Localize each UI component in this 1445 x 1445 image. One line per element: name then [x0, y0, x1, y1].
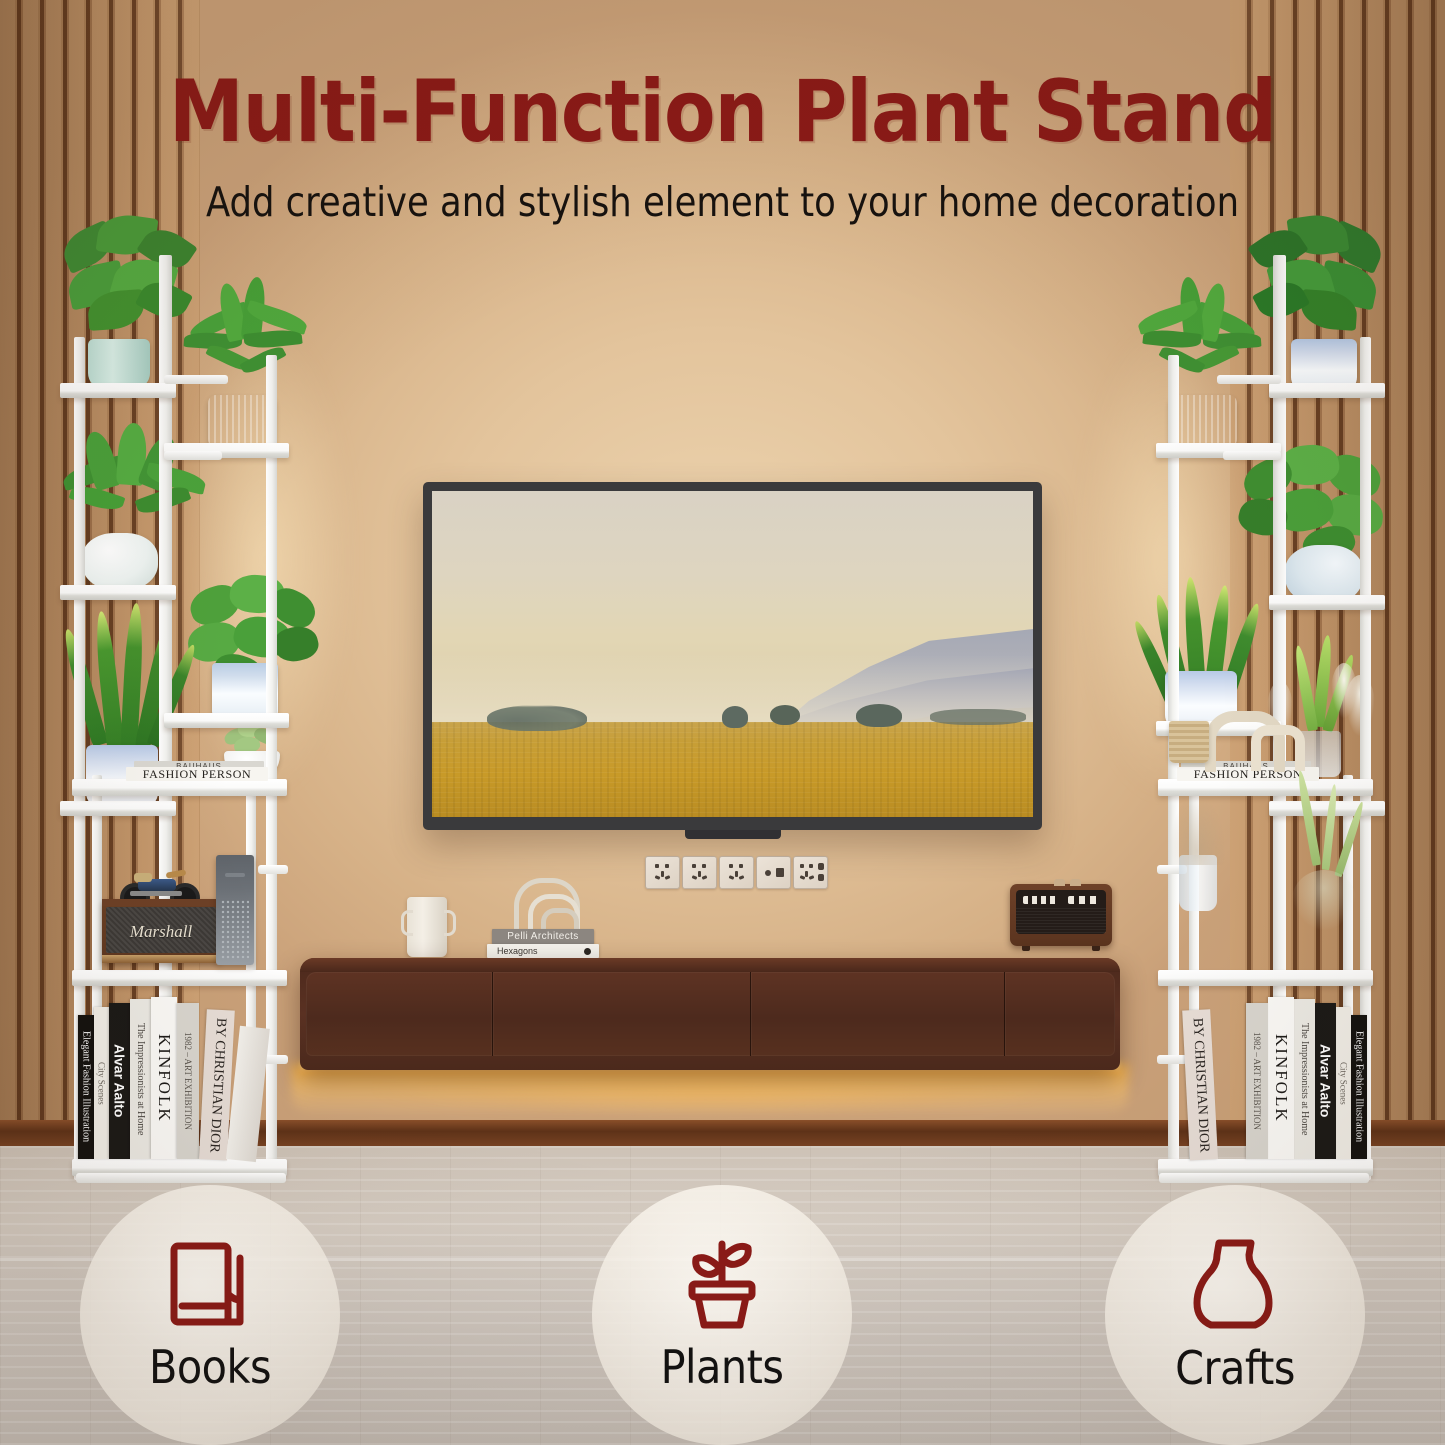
shelf-top-left: [1269, 383, 1385, 398]
book-spine: 1982 – ART EXHIBITION: [177, 1003, 199, 1159]
console-book-lower: Hexagons: [487, 944, 599, 958]
stand-rail-foot: [1159, 1173, 1369, 1183]
ribbed-mint-pot: [1169, 395, 1237, 449]
stand-rail-bottom: [1157, 1055, 1187, 1064]
feature-label: Books: [149, 1340, 271, 1394]
book-spine: Elegant Fashion Illustration: [1351, 1015, 1367, 1159]
book-spine: Alvar Aalto: [1315, 1003, 1336, 1159]
feature-label: Plants: [661, 1340, 784, 1394]
book-spine: Alvar Aalto: [109, 1003, 130, 1159]
page-subtitle: Add creative and stylish element to your…: [29, 178, 1416, 226]
product-lifestyle-image: Multi-Function Plant Stand Add creative …: [0, 0, 1445, 1445]
tv-art-tree-cluster: [487, 705, 587, 731]
tv-art-shrub-right: [930, 709, 1026, 725]
radio-knob-left: [1054, 879, 1065, 886]
tv-art-tree-1: [722, 706, 748, 728]
book-spine: The Impressionists at Home: [130, 999, 151, 1159]
mint-ceramic-pot: [88, 339, 150, 389]
marshall-speaker: Marshall: [102, 899, 220, 963]
stand-rail-foot: [76, 1173, 286, 1183]
tv-art-field-texture: [432, 722, 1033, 817]
feature-label: Crafts: [1175, 1341, 1295, 1395]
radio-foot-left: [1022, 946, 1030, 951]
feature-crafts[interactable]: Crafts: [1105, 1185, 1365, 1445]
book-spine: 1982 – ART EXHIBITION: [1246, 1003, 1268, 1159]
stand-rail-mid: [164, 451, 222, 460]
dracaena-plant: [1135, 277, 1263, 409]
console-drawer: [306, 972, 492, 1056]
tv-screen: [432, 491, 1033, 817]
vase-handle-left: [401, 910, 413, 936]
book-spine: Elegant Fashion Illustration: [78, 1015, 94, 1159]
palm-plant: [182, 277, 310, 409]
radio-button-row-left: [1023, 896, 1059, 904]
stand-rail-mid: [1223, 451, 1281, 460]
woven-basket: [1169, 721, 1209, 763]
motorcycle-model: [118, 867, 196, 901]
power-socket: [645, 856, 680, 889]
shelf-mid-right: [164, 713, 289, 728]
tv-stand-foot: [685, 830, 781, 839]
book-spine: KINFOLK: [151, 997, 177, 1159]
book-spine: City Scenes: [94, 1007, 109, 1159]
console-drawer: [1004, 972, 1115, 1056]
plant-stand-right: BAUHAUS FASHION PERSON Elegant Fashion I…: [1145, 255, 1385, 1180]
tv-console: [300, 958, 1120, 1070]
book-spine: KINFOLK: [1268, 997, 1294, 1159]
marshall-logo: Marshall: [102, 922, 220, 942]
radio-grille: [1016, 908, 1106, 934]
book-spine: The Impressionists at Home: [1294, 999, 1315, 1159]
console-drawer: [492, 972, 751, 1056]
plant-stand-left: BAUHAUS FASHION PERSON Marshall Elegant …: [60, 255, 300, 1180]
book-spine: BY CHRISTIAN DIOR: [1182, 1009, 1218, 1160]
round-white-pot: [82, 533, 158, 591]
page-title: Multi-Function Plant Stand: [22, 62, 1424, 162]
feature-plants[interactable]: Plants: [592, 1185, 852, 1445]
stand-rail-low: [258, 865, 288, 874]
book-icon: [164, 1236, 256, 1332]
light-switch: [756, 856, 791, 889]
radio-foot-right: [1092, 946, 1100, 951]
stand-rail-upper: [1217, 375, 1281, 384]
shelf-storage-mid: [72, 970, 287, 986]
book-spine: City Scenes: [1336, 1007, 1351, 1159]
shelf-mid-left: [60, 585, 176, 600]
tower-speaker: [216, 855, 254, 965]
shelf-low-left: [60, 801, 176, 816]
shelf-storage-top: [72, 779, 287, 796]
power-socket: [682, 856, 717, 889]
arch-sculpture-small: [1251, 725, 1305, 771]
snake-plant: [66, 603, 196, 763]
feature-books[interactable]: Books: [80, 1185, 340, 1445]
power-socket-usb: [793, 856, 828, 889]
console-drawer: [750, 972, 1005, 1056]
shelf-storage-mid: [1158, 970, 1373, 986]
tv-art-tree-3: [856, 704, 902, 727]
vase-handle-right: [444, 910, 456, 936]
console-top-surface: [300, 958, 1120, 972]
tv-art-tree-2: [770, 705, 800, 725]
book-dot-accent: [584, 948, 591, 955]
ceramic-vase-decor: [407, 897, 447, 957]
dried-stems: [1169, 795, 1225, 865]
console-book-upper: Pelli Architects: [492, 929, 594, 944]
book-fashion-person: FASHION PERSON: [126, 767, 268, 781]
stand-rail-upper: [164, 375, 228, 384]
power-socket: [719, 856, 754, 889]
wall-mounted-tv: [423, 482, 1042, 830]
vase-icon: [1191, 1235, 1279, 1333]
radio-button-row-right: [1068, 896, 1100, 904]
fern-foreground-right: [1286, 770, 1396, 940]
shelf-mid-left: [1269, 595, 1385, 610]
shelf-top-left: [60, 383, 176, 398]
wall-socket-panel: [645, 856, 828, 889]
potted-plant-icon: [674, 1236, 770, 1332]
radio-knob-right: [1070, 879, 1081, 886]
